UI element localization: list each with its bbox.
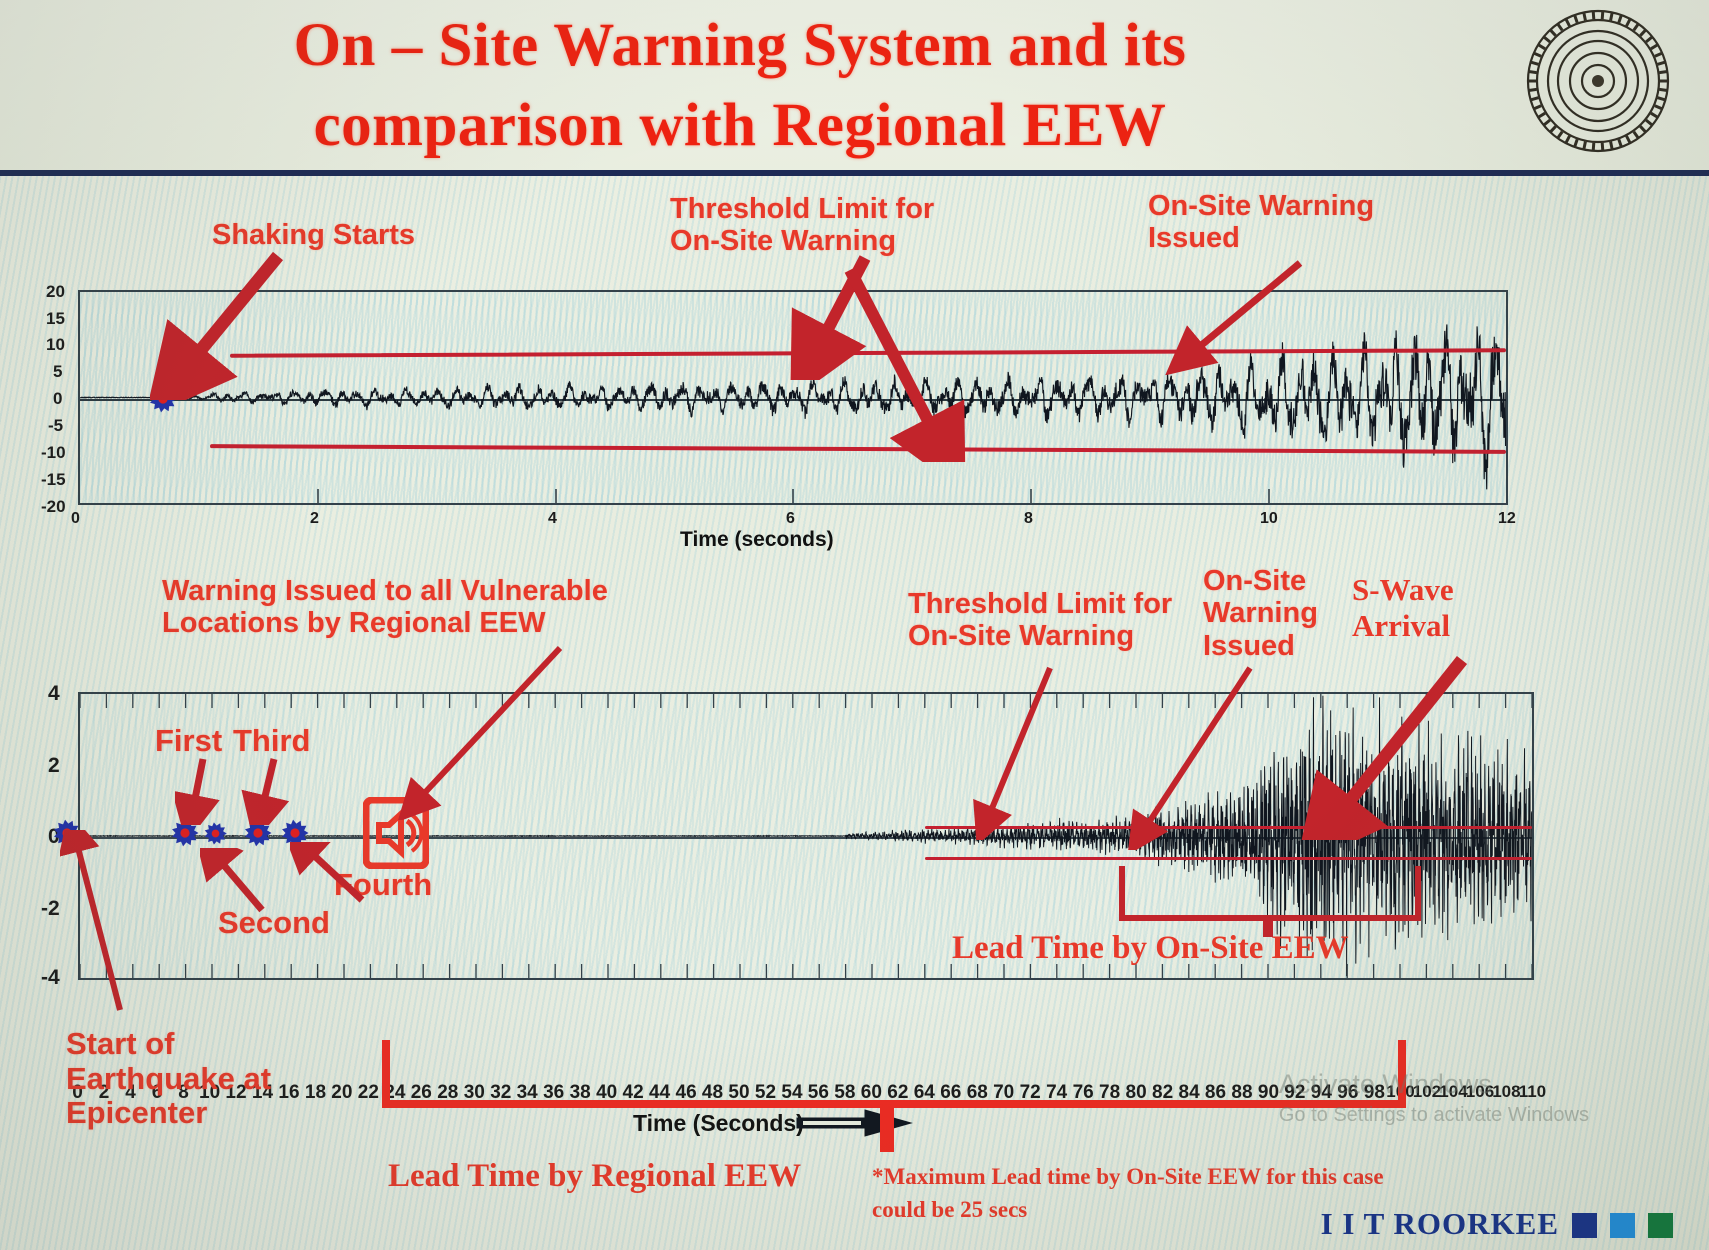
annotation-warning-issued-2: On-Site Warning Issued: [1203, 565, 1318, 662]
arrow-first: [175, 755, 235, 825]
chart2-xtick-20: 20: [331, 1082, 352, 1104]
annotation-threshold-limit-2: Threshold Limit for On-Site Warning: [908, 588, 1172, 653]
iit-roorkee-logo-icon: null: [1525, 8, 1671, 154]
annotation-threshold-limit-1-line1: Threshold Limit for: [670, 193, 934, 225]
annotation-threshold-limit-2-line2: On-Site Warning: [908, 620, 1172, 652]
watermark-line-2: Go to Settings to activate Windows: [1279, 1102, 1589, 1128]
chart1-ytick-m10: -10: [41, 443, 66, 463]
page-title-line-2: comparison with Regional EEW: [150, 86, 1330, 166]
chart1-xtick-8: 8: [1024, 510, 1033, 528]
chart2-ytick-m4: -4: [41, 966, 60, 990]
chart1-xaxis-label: Time (seconds): [680, 528, 834, 552]
annotation-regional-warning-issued: Warning Issued to all Vulnerable Locatio…: [162, 575, 608, 640]
annotation-third: Third: [233, 724, 311, 759]
annotation-warning-issued-2-line1: On-Site: [1203, 565, 1318, 597]
windows-activation-watermark: Activate Windows Go to Settings to activ…: [1279, 1067, 1589, 1128]
arrow-threshold-limit-2: [950, 660, 1080, 840]
chart1-xtick-4: 4: [548, 510, 557, 528]
annotation-s-wave-arrival: S-Wave Arrival: [1352, 572, 1454, 643]
arrow-warning-issued-1: [1140, 255, 1340, 375]
bracket-lead-time-regional: [380, 1040, 1410, 1160]
arrow-regional-warning-issued: [380, 640, 570, 820]
annotation-warning-issued-1-line2: Issued: [1148, 222, 1374, 254]
annotation-s-wave-arrival-line1: S-Wave: [1352, 572, 1454, 608]
page-title: On – Site Warning System and its compari…: [150, 6, 1330, 166]
chart1-xtick-0: 0: [71, 510, 80, 528]
chart1-xtick-2: 2: [310, 510, 319, 528]
watermark-line-1: Activate Windows: [1279, 1067, 1589, 1102]
chart2-ytick-2: 2: [48, 754, 60, 778]
chart1-ytick-m5: -5: [48, 416, 63, 436]
annotation-footnote-line2: could be 25 secs: [872, 1193, 1384, 1226]
slide-header: On – Site Warning System and its compari…: [0, 0, 1709, 176]
footer-swatch-1: [1572, 1213, 1597, 1238]
footer-swatch-3: [1648, 1213, 1673, 1238]
annotation-regional-warning-issued-line1: Warning Issued to all Vulnerable: [162, 575, 608, 607]
annotation-warning-issued-1: On-Site Warning Issued: [1148, 190, 1374, 255]
chart2-xtick-16: 16: [278, 1082, 299, 1104]
annotation-threshold-limit-1: Threshold Limit for On-Site Warning: [670, 193, 934, 258]
bracket-lead-time-onsite: [1118, 860, 1428, 940]
chart1-ytick-0: 0: [53, 389, 62, 409]
annotation-warning-issued-2-line2: Warning: [1203, 597, 1318, 629]
annotation-start-of-earthquake-line3: Epicenter: [66, 1096, 271, 1131]
arrow-threshold-limit-1b: [830, 262, 1130, 462]
header-divider: [0, 170, 1709, 176]
chart2-xtick-22: 22: [358, 1082, 379, 1104]
annotation-warning-issued-1-line1: On-Site Warning: [1148, 190, 1374, 222]
annotation-s-wave-arrival-line2: Arrival: [1352, 608, 1454, 644]
annotation-start-of-earthquake-line2: Earthquake at: [66, 1062, 271, 1097]
chart1-ytick-m20: -20: [41, 497, 66, 517]
annotation-lead-time-regional: Lead Time by Regional EEW: [388, 1158, 801, 1196]
chart1-xtick-12: 12: [1498, 510, 1516, 528]
arrow-third: [240, 755, 300, 825]
arrow-second: [200, 848, 280, 918]
annotation-start-of-earthquake-line1: Start of: [66, 1027, 271, 1062]
arrow-warning-issued-2: [1090, 660, 1280, 850]
arrow-s-wave-arrival: [1300, 650, 1490, 840]
annotation-start-of-earthquake: Start of Earthquake at Epicenter: [66, 1027, 271, 1131]
chart1-ytick-5: 5: [53, 362, 62, 382]
annotation-footnote: *Maximum Lead time by On-Site EEW for th…: [872, 1160, 1384, 1227]
chart1-xtick-6: 6: [786, 510, 795, 528]
footer-swatch-2: [1610, 1213, 1635, 1238]
chart1-ytick-m15: -15: [41, 470, 66, 490]
annotation-footnote-line1: *Maximum Lead time by On-Site EEW for th…: [872, 1160, 1384, 1193]
chart1-ytick-10: 10: [46, 335, 65, 355]
chart1-ytick-15: 15: [46, 309, 65, 329]
arrow-start-of-earthquake: [60, 830, 150, 1030]
page-title-line-1: On – Site Warning System and its: [150, 6, 1330, 86]
chart1-ytick-20: 20: [46, 282, 65, 302]
arrow-shaking-starts: [150, 240, 570, 400]
chart2-ytick-m2: -2: [41, 897, 60, 921]
chart2-ytick-4: 4: [48, 682, 60, 706]
institute-label: I I T ROORKEE: [1321, 1206, 1559, 1242]
chart2-xtick-18: 18: [305, 1082, 326, 1104]
annotation-threshold-limit-2-line1: Threshold Limit for: [908, 588, 1172, 620]
annotation-first: First: [155, 724, 222, 759]
annotation-regional-warning-issued-line2: Locations by Regional EEW: [162, 607, 608, 639]
arrow-fourth: [290, 842, 380, 912]
chart1-xtick-10: 10: [1260, 510, 1278, 528]
